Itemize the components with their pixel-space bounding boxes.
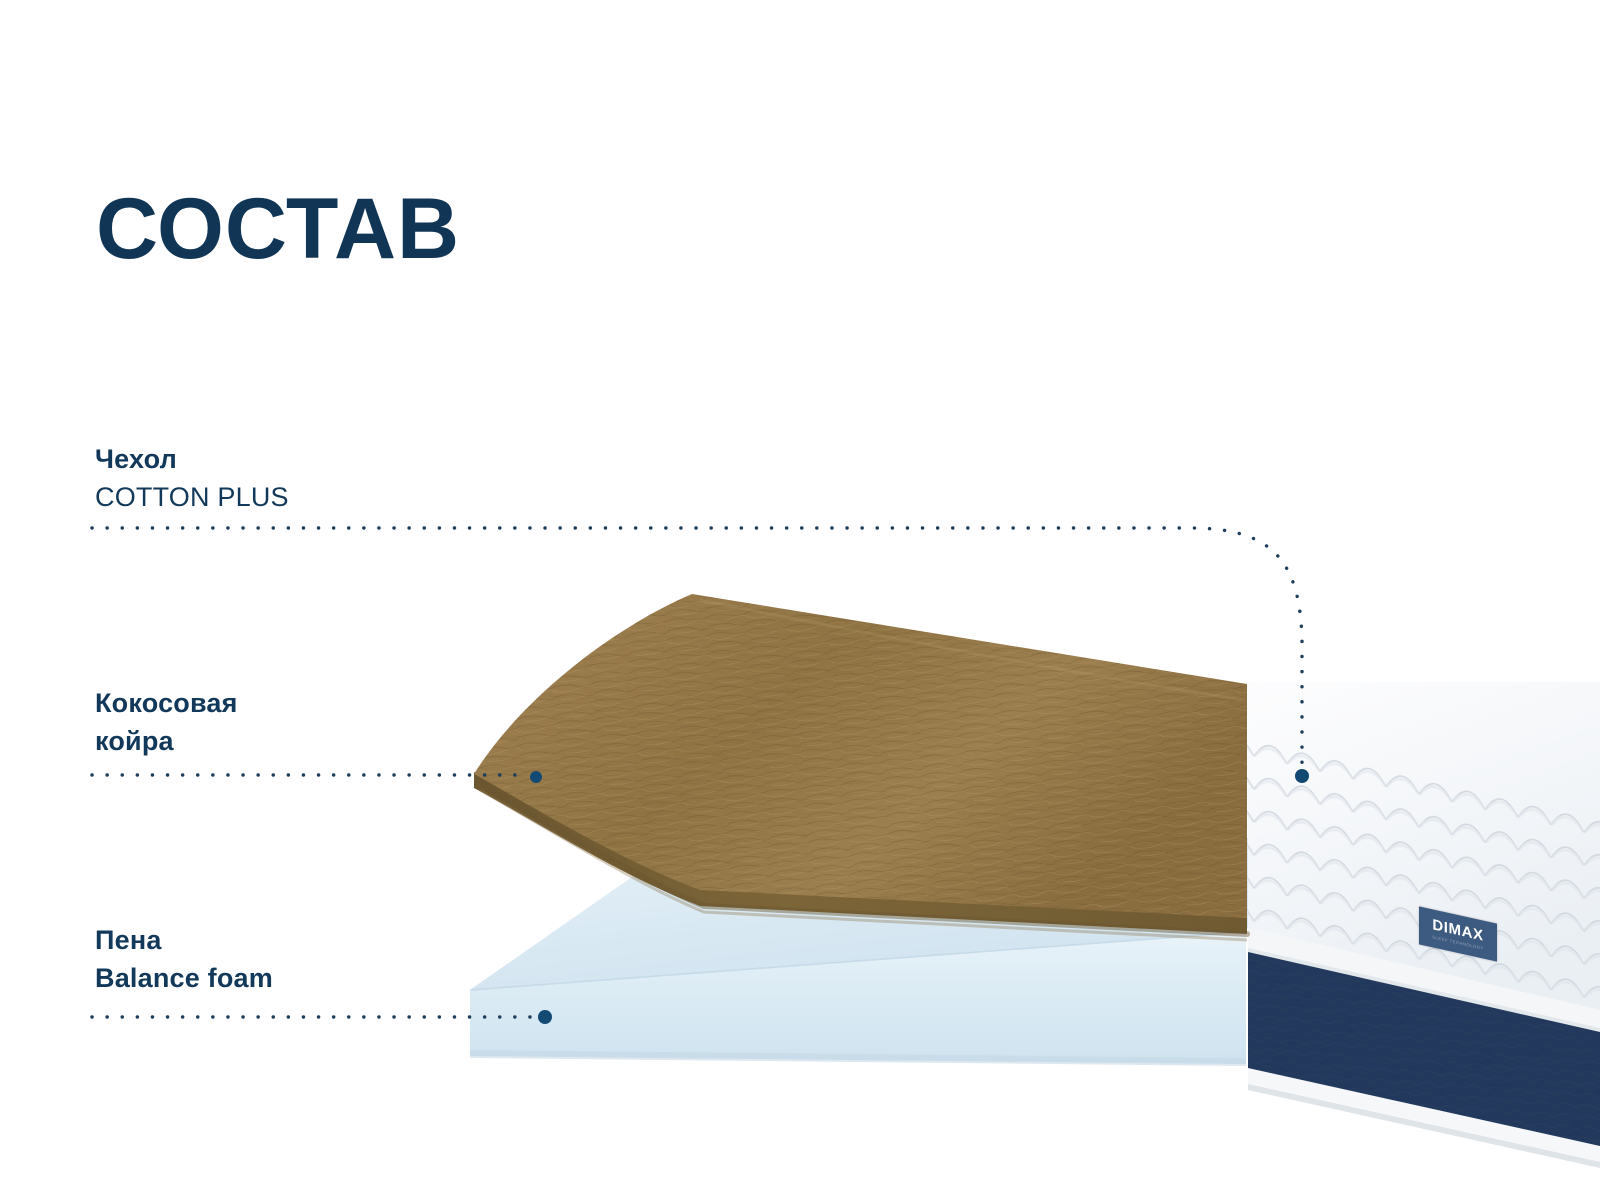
label-foam: Пена Balance foam <box>95 921 273 997</box>
label-cover-secondary: COTTON PLUS <box>95 478 289 516</box>
mattress-vector <box>0 0 1600 1201</box>
label-coir: Кокосовая койра <box>95 684 238 760</box>
mattress-illustration: DIMAX SLEEP TECHNOLOGY <box>0 0 1600 1201</box>
label-foam-primary: Пена <box>95 921 273 959</box>
leader-dot-coir <box>530 771 542 783</box>
label-cover-primary: Чехол <box>95 440 289 478</box>
label-foam-secondary: Balance foam <box>95 959 273 997</box>
layer-coir <box>474 594 1247 940</box>
coir-fiber-texture-2 <box>474 594 1247 918</box>
label-cover: Чехол COTTON PLUS <box>95 440 289 516</box>
leader-dot-foam <box>538 1010 552 1024</box>
composition-slide: СОСТАВ <box>0 0 1600 1201</box>
label-coir-secondary: койра <box>95 722 238 760</box>
label-coir-primary: Кокосовая <box>95 684 238 722</box>
leader-dot-cover <box>1295 769 1309 783</box>
